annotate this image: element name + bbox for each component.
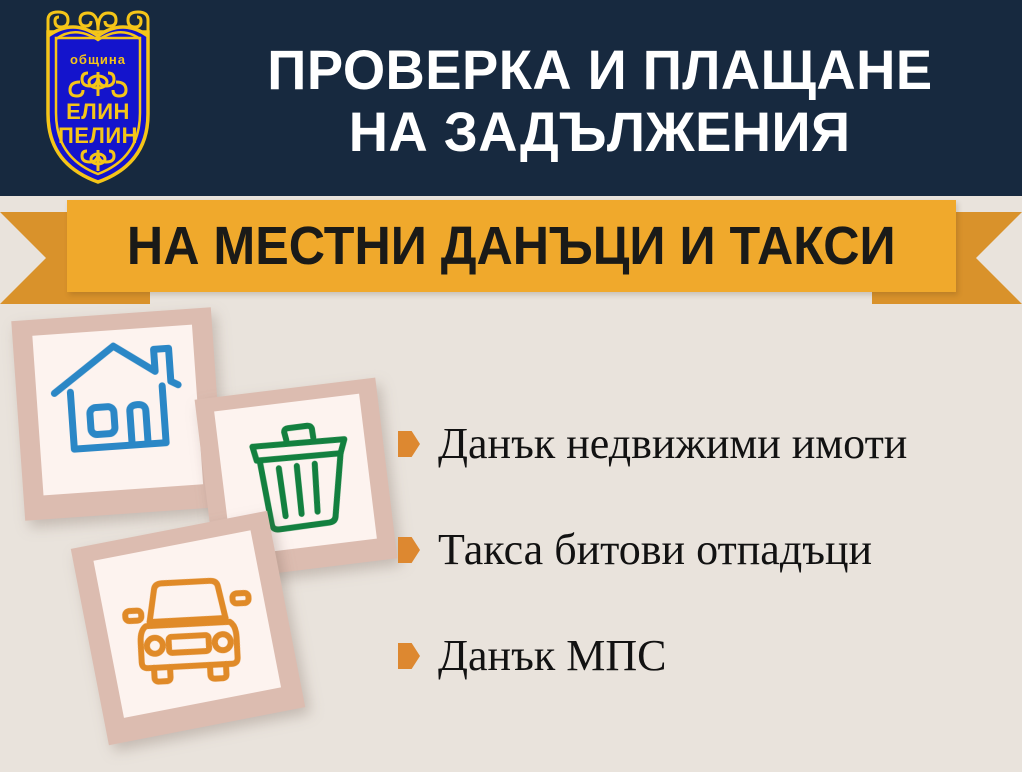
page-title-line-1: ПРОВЕРКА И ПЛАЩАНЕ bbox=[267, 39, 932, 101]
list-item-label: Такса битови отпадъци bbox=[438, 525, 872, 575]
list-item-label: Данък недвижими имоти bbox=[438, 419, 907, 469]
stamp-card-car bbox=[71, 511, 305, 745]
subtitle-ribbon: НА МЕСТНИ ДАНЪЦИ И ТАКСИ bbox=[0, 198, 1022, 310]
page-title-line-2: НА ЗАДЪЛЖЕНИЯ bbox=[349, 101, 851, 163]
list-item[interactable]: Данък МПС bbox=[398, 630, 1018, 682]
bullet-arrow-icon bbox=[398, 643, 420, 669]
poster-canvas: община ЕЛИН ПЕЛИН bbox=[0, 0, 1022, 772]
svg-text:ПЕЛИН: ПЕЛИН bbox=[58, 123, 138, 148]
tax-type-list: Данък недвижими имоти Такса битови отпад… bbox=[398, 418, 1018, 718]
header-title-block: ПРОВЕРКА И ПЛАЩАНЕ НА ЗАДЪЛЖЕНИЯ bbox=[185, 16, 1015, 186]
ribbon-label: НА МЕСТНИ ДАНЪЦИ И ТАКСИ bbox=[127, 217, 896, 275]
stamp-card-group bbox=[0, 300, 430, 772]
bullet-arrow-icon bbox=[398, 431, 420, 457]
municipality-logo: община ЕЛИН ПЕЛИН bbox=[18, 6, 178, 191]
header-bar: община ЕЛИН ПЕЛИН bbox=[0, 0, 1022, 196]
ribbon-banner: НА МЕСТНИ ДАНЪЦИ И ТАКСИ bbox=[67, 200, 956, 292]
stamp-card-house bbox=[11, 307, 224, 520]
svg-text:ЕЛИН: ЕЛИН bbox=[66, 99, 130, 124]
list-item[interactable]: Данък недвижими имоти bbox=[398, 418, 1018, 470]
bullet-arrow-icon bbox=[398, 537, 420, 563]
list-item-label: Данък МПС bbox=[438, 631, 666, 681]
list-item[interactable]: Такса битови отпадъци bbox=[398, 524, 1018, 576]
svg-text:община: община bbox=[70, 52, 126, 67]
